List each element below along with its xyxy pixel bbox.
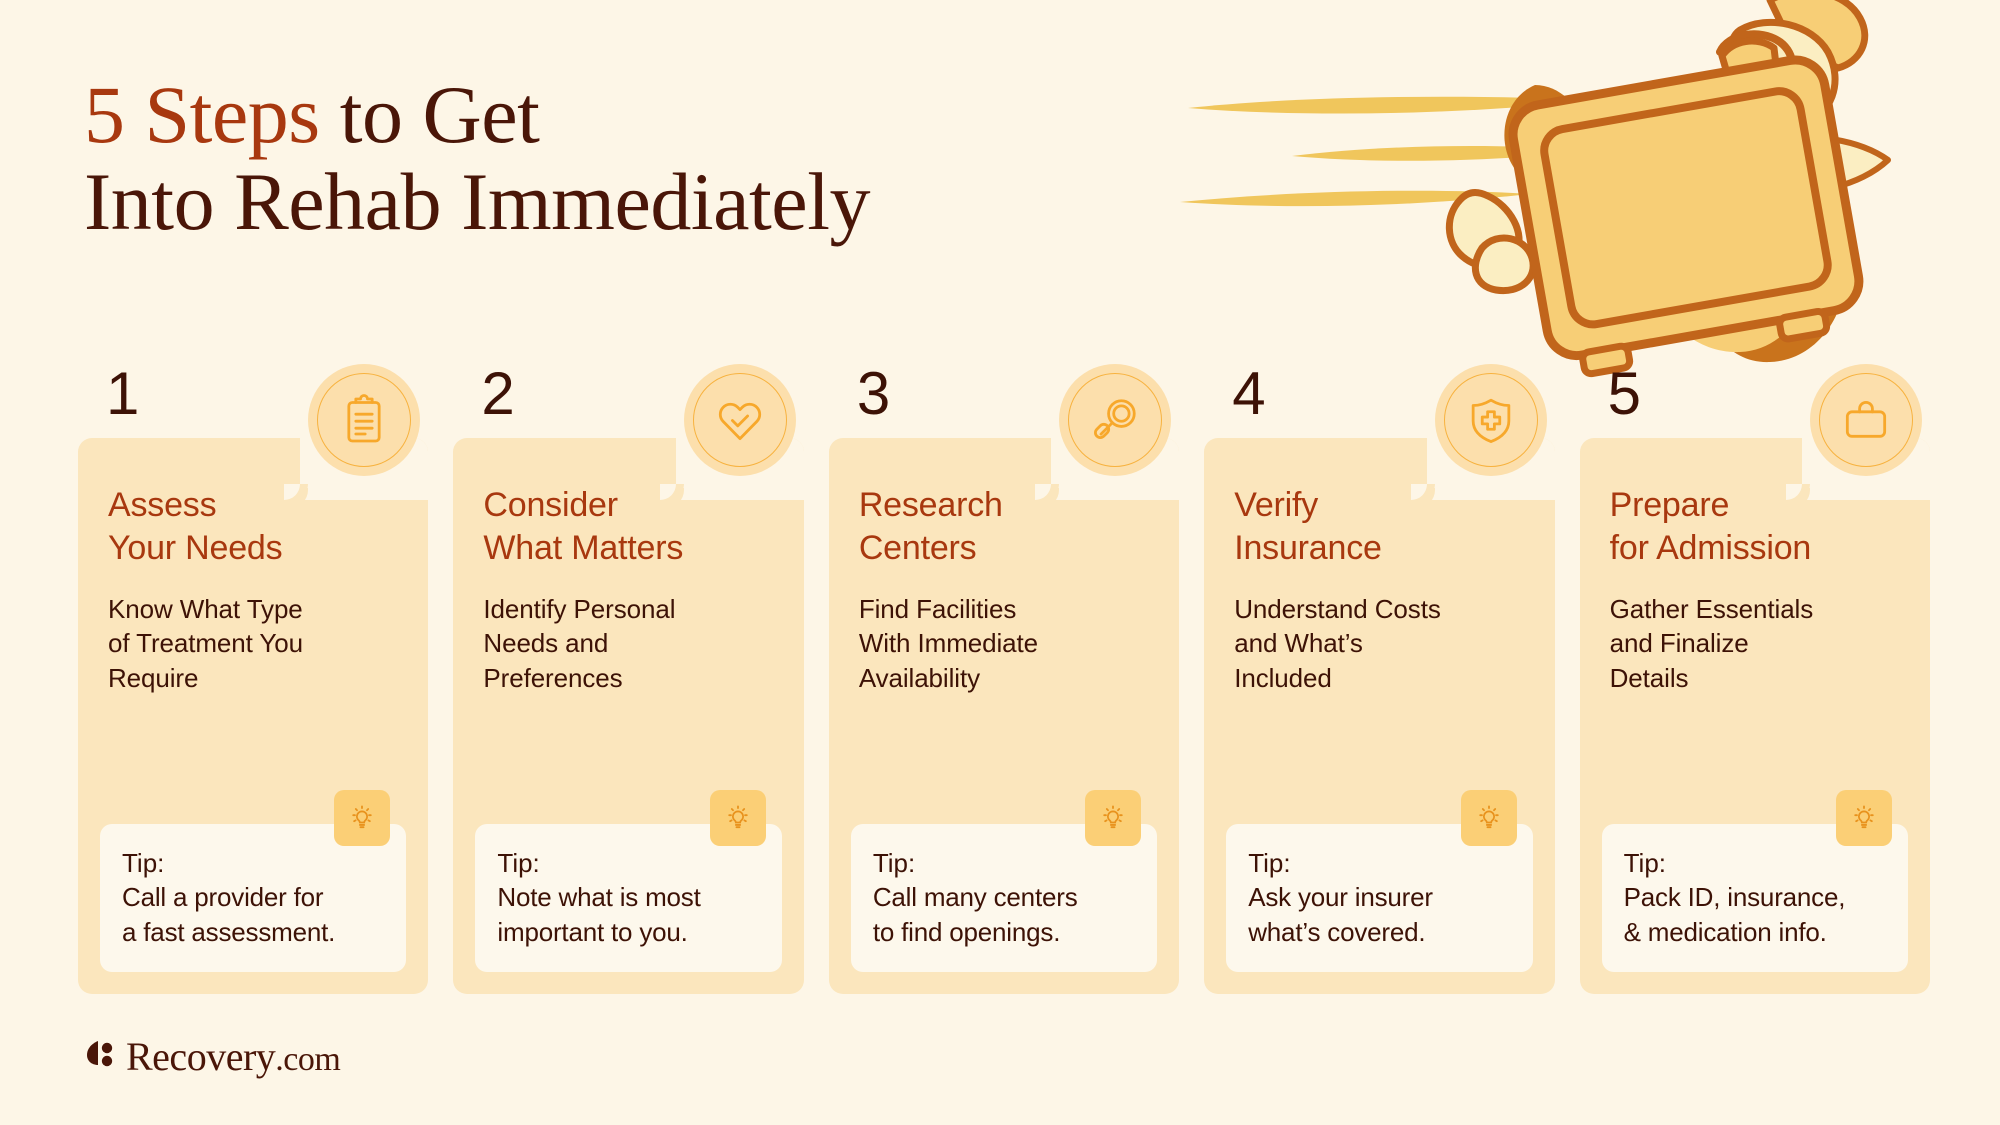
step-card-body-5: Prepare for Admission Gather Essentials … (1580, 438, 1930, 994)
step-heading-1: Assess Your Needs (108, 484, 398, 570)
running-person-with-suitcase-illustration (1440, 0, 2000, 410)
step-description-2: Identify Personal Needs and Preferences (483, 592, 773, 696)
step-card-3[interactable]: 3 Research Centers Find Facilities With … (829, 366, 1179, 994)
tip-box-1: Tip: Call a provider for a fast assessme… (100, 824, 406, 972)
step-card-5[interactable]: 5 Prepare for Admission Gather Essential… (1580, 366, 1930, 994)
tip-text-2: Note what is most important to you. (497, 880, 761, 950)
step-heading-4: Verify Insurance (1234, 484, 1524, 570)
card-content-2: Consider What Matters Identify Personal … (453, 438, 803, 696)
step-card-2[interactable]: 2 Consider What Matters Identify Persona… (453, 366, 803, 994)
step-description-3: Find Facilities With Immediate Availabil… (859, 592, 1149, 696)
step-card-body-3: Research Centers Find Facilities With Im… (829, 438, 1179, 994)
tip-text-5: Pack ID, insurance, & medication info. (1624, 880, 1888, 950)
briefcase-icon (1810, 364, 1922, 476)
tip-label-4: Tip: (1248, 846, 1512, 881)
tip-box-4: Tip: Ask your insurer what’s covered. (1226, 824, 1532, 972)
tip-text-3: Call many centers to find openings. (873, 880, 1137, 950)
step-heading-2: Consider What Matters (483, 484, 773, 570)
heart-check-icon (684, 364, 796, 476)
tip-text-4: Ask your insurer what’s covered. (1248, 880, 1512, 950)
card-content-4: Verify Insurance Understand Costs and Wh… (1204, 438, 1554, 696)
magnifying-glass-icon (1059, 364, 1171, 476)
step-card-body-2: Consider What Matters Identify Personal … (453, 438, 803, 994)
lightbulb-icon (1836, 790, 1892, 846)
lightbulb-icon (1461, 790, 1517, 846)
tip-label-1: Tip: (122, 846, 386, 881)
step-card-4[interactable]: 4 Verify Insurance Understand Costs and … (1204, 366, 1554, 994)
lightbulb-icon (710, 790, 766, 846)
card-content-3: Research Centers Find Facilities With Im… (829, 438, 1179, 696)
lightbulb-icon (1085, 790, 1141, 846)
step-card-1[interactable]: 1 Assess Your Needs Know What Type of Tr… (78, 366, 428, 994)
step-number-1: 1 (106, 364, 139, 424)
tip-box-5: Tip: Pack ID, insurance, & medication in… (1602, 824, 1908, 972)
tip-label-2: Tip: (497, 846, 761, 881)
step-description-5: Gather Essentials and Finalize Details (1610, 592, 1900, 696)
step-heading-5: Prepare for Admission (1610, 484, 1900, 570)
card-content-1: Assess Your Needs Know What Type of Trea… (78, 438, 428, 696)
clipboard-icon (308, 364, 420, 476)
tip-label-5: Tip: (1624, 846, 1888, 881)
step-number-5: 5 (1608, 364, 1641, 424)
step-card-body-4: Verify Insurance Understand Costs and Wh… (1204, 438, 1554, 994)
tip-text-1: Call a provider for a fast assessment. (122, 880, 386, 950)
tip-box-2: Tip: Note what is most important to you. (475, 824, 781, 972)
recovery-logo[interactable]: Recovery.com (84, 1037, 340, 1077)
shield-cross-icon (1435, 364, 1547, 476)
step-number-4: 4 (1232, 364, 1265, 424)
logo-wordmark: Recovery.com (126, 1037, 340, 1077)
steps-list: 1 Assess Your Needs Know What Type of Tr… (78, 366, 1930, 994)
step-description-1: Know What Type of Treatment You Require (108, 592, 398, 696)
speed-lines-decoration (1180, 80, 1600, 240)
title-accent-text: 5 Steps (84, 69, 320, 160)
step-number-2: 2 (481, 364, 514, 424)
card-content-5: Prepare for Admission Gather Essentials … (1580, 438, 1930, 696)
title-line-2: Into Rehab Immediately (84, 159, 1184, 246)
tip-box-3: Tip: Call many centers to find openings. (851, 824, 1157, 972)
step-heading-3: Research Centers (859, 484, 1149, 570)
logo-name: Recovery (126, 1034, 275, 1079)
step-card-body-1: Assess Your Needs Know What Type of Trea… (78, 438, 428, 994)
title-rest-text: to Get (320, 69, 540, 160)
tip-label-3: Tip: (873, 846, 1137, 881)
lightbulb-icon (334, 790, 390, 846)
page-title: 5 Steps to Get Into Rehab Immediately (84, 72, 1184, 246)
logo-tld: .com (275, 1041, 340, 1078)
step-number-3: 3 (857, 364, 890, 424)
title-line-1: 5 Steps to Get (84, 72, 1184, 159)
infographic-canvas: 5 Steps to Get Into Rehab Immediately (0, 0, 2000, 1125)
step-description-4: Understand Costs and What’s Included (1234, 592, 1524, 696)
leaf-mark-icon (84, 1039, 114, 1075)
